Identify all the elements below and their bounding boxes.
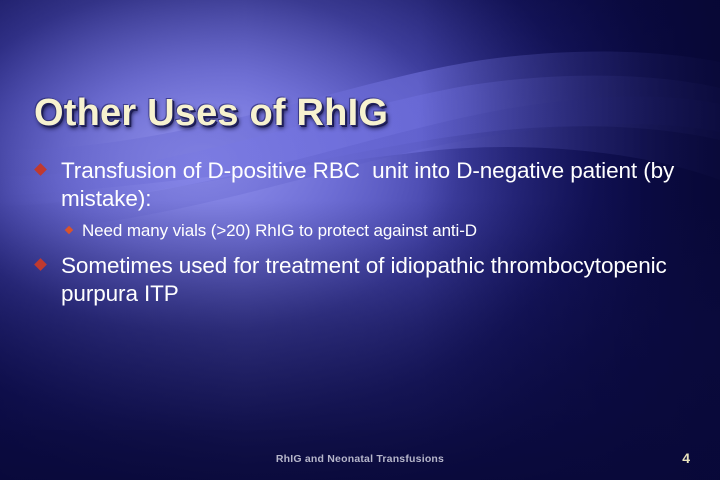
bullet-item: Sometimes used for treatment of idiopath… [36, 252, 676, 308]
slide-title: Other Uses of RhIG [34, 92, 388, 135]
diamond-bullet-icon [34, 163, 47, 176]
diamond-bullet-icon [34, 258, 47, 271]
bullet-item: Transfusion of D-positive RBC unit into … [36, 157, 676, 213]
sub-bullet-text: Need many vials (>20) RhIG to protect ag… [82, 219, 477, 243]
sub-bullet-group: Need many vials (>20) RhIG to protect ag… [36, 219, 676, 243]
slide-body-content: Transfusion of D-positive RBC unit into … [36, 157, 676, 310]
page-number: 4 [682, 450, 690, 466]
sub-bullet-item: Need many vials (>20) RhIG to protect ag… [66, 219, 676, 243]
small-diamond-bullet-icon [65, 226, 73, 234]
slide-footer: RhIG and Neonatal Transfusions [0, 453, 720, 465]
bullet-text: Transfusion of D-positive RBC unit into … [61, 157, 676, 213]
presentation-slide: Other Uses of RhIG Transfusion of D-posi… [0, 0, 720, 480]
bullet-text: Sometimes used for treatment of idiopath… [61, 252, 676, 308]
